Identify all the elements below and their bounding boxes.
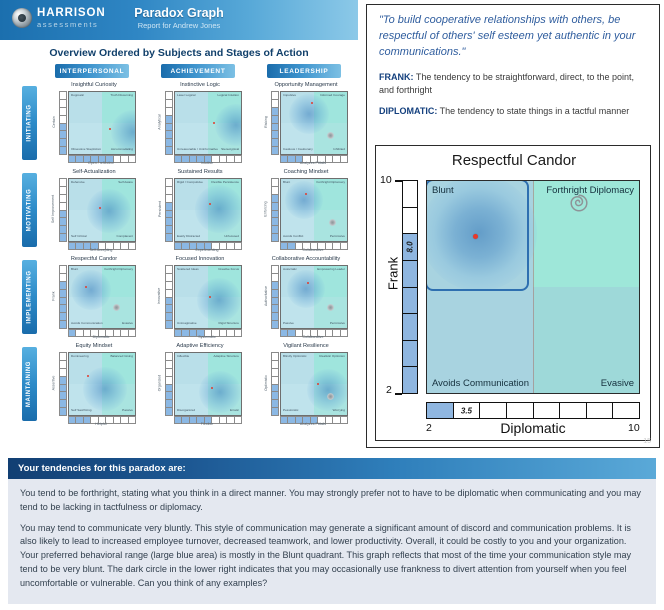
mini-y-scale-cell	[60, 131, 66, 139]
y-scale-cell	[403, 341, 417, 368]
mini-y-scale-cell	[60, 266, 66, 274]
page-number: 15	[643, 438, 651, 445]
mini-chart-title: Equity Mindset	[48, 343, 140, 349]
mini-quadrant-label: Flexible Persistence	[211, 181, 239, 185]
x-scale-cell	[613, 403, 639, 418]
mini-y-scale-cell	[60, 305, 66, 313]
mini-score-dot	[317, 383, 319, 385]
mini-y-scale-cell	[60, 282, 66, 290]
respectful-candor-chart: Respectful Candor 10 2 Frank 8.0 Blunt F…	[375, 145, 651, 441]
mini-y-scale-cell	[272, 218, 278, 226]
y-scale-cell	[403, 288, 417, 315]
mini-y-scale-cell	[60, 400, 66, 408]
y-axis-scale-bar[interactable]: 8.0	[402, 180, 418, 394]
mini-y-axis-label: Organized	[155, 352, 164, 414]
x-scale-cell	[587, 403, 614, 418]
mini-plot-area: DomineeringBalanced GivingSelf Sacrifici…	[68, 352, 136, 416]
mini-y-scale-cell	[272, 187, 278, 195]
mini-quadrant-label: Blunt	[71, 268, 78, 272]
mini-y-scale-cell	[272, 321, 278, 328]
mini-x-axis-label: Intuitive	[174, 161, 240, 165]
mini-score-dot	[209, 203, 211, 205]
y-axis-label: Frank	[386, 244, 401, 304]
mini-score-dot	[211, 387, 213, 389]
mini-score-dot	[209, 296, 211, 298]
mini-x-axis-label: Collaborative	[280, 248, 346, 252]
mini-dark-circle-icon	[113, 304, 120, 311]
chart-title: Respectful Candor	[376, 152, 652, 169]
column-header-leadership[interactable]: LEADERSHIP	[267, 64, 341, 78]
mini-y-scale-cell	[60, 392, 66, 400]
mini-chart-focused-innovation[interactable]: Focused InnovationInnovativeScattered Id…	[154, 256, 246, 338]
mini-quadrant-label: Dogmatic	[71, 94, 84, 98]
mini-range-blob	[197, 278, 241, 322]
mini-y-scale-cell	[166, 305, 172, 313]
mini-y-scale[interactable]	[271, 265, 279, 329]
y-axis-max-label: 10	[380, 174, 392, 186]
paradox-quote: "To build cooperative relationships with…	[379, 13, 651, 61]
mini-chart-coaching-mindset[interactable]: Coaching MindsetEnforcingBluntForthright…	[260, 169, 352, 251]
mini-chart-title: Focused Innovation	[154, 256, 246, 262]
mini-y-scale-cell	[60, 124, 66, 132]
x-scale-cell	[507, 403, 534, 418]
mini-y-scale-cell	[60, 298, 66, 306]
mini-range-blob	[287, 270, 325, 308]
mini-quadrant-label: Forthright Diplomacy	[316, 181, 345, 185]
overview-heading: Overview Ordered by Subjects and Stages …	[0, 47, 358, 59]
mini-y-scale-cell	[272, 116, 278, 124]
mini-y-scale-cell	[60, 321, 66, 328]
mini-quadrant-label: Rigid / Compulsive	[177, 181, 203, 185]
y-axis-bottom-tick	[395, 393, 402, 395]
mini-range-blob	[285, 181, 323, 219]
mini-quadrant-label: Self Aware	[118, 181, 133, 185]
mini-y-scale[interactable]	[59, 265, 67, 329]
mini-y-scale-cell	[60, 139, 66, 147]
mini-y-scale[interactable]	[59, 352, 67, 416]
mini-y-scale-cell	[272, 290, 278, 298]
mini-y-scale-cell	[60, 361, 66, 369]
mini-y-axis-label-text: Self Improvement	[52, 195, 56, 223]
x-axis-scale-bar[interactable]: 3.5	[426, 402, 640, 419]
mini-y-scale-cell	[60, 218, 66, 226]
y-axis-top-tick	[395, 180, 402, 182]
mini-quadrant-label: Scattered Ideas	[177, 268, 199, 272]
mini-quadrant-label: Evasive	[122, 322, 133, 326]
mini-score-dot	[213, 122, 215, 124]
mini-x-axis-label: Flexible	[174, 422, 240, 426]
mini-plot-area: BluntForthright DiplomacyAvoids Conflict…	[280, 178, 348, 242]
quadrant-label-top-left: Blunt	[432, 185, 454, 196]
mini-x-axis-label: Collaborative	[280, 335, 346, 339]
mini-y-scale-cell	[60, 226, 66, 234]
chart-plot-area[interactable]: Blunt Forthright Diplomacy Avoids Commun…	[426, 180, 640, 394]
mini-y-scale-cell	[272, 408, 278, 415]
mini-y-axis-label: Persistent	[155, 178, 164, 240]
mini-y-scale-cell	[272, 179, 278, 187]
mini-y-scale[interactable]	[165, 178, 173, 242]
mini-y-axis-label: Risking	[261, 91, 270, 153]
mini-quadrant-label: Balanced Giving	[110, 355, 133, 359]
mini-y-scale-cell	[272, 313, 278, 321]
mini-y-scale-cell	[166, 131, 172, 139]
mini-chart-instinctive-logic[interactable]: Instinctive LogicAnalyticalLaser Logical…	[154, 82, 246, 164]
mini-quadrant-label: Creative Focus	[218, 268, 239, 272]
page-title: Paradox Graph	[0, 6, 358, 20]
x-axis-max-label: 10	[628, 422, 640, 434]
mini-quadrant-label: Obsessive Skepticism	[71, 148, 101, 152]
mini-y-scale-cell	[60, 369, 66, 377]
definition-text: The tendency to state things in a tactfu…	[437, 106, 629, 116]
mini-y-scale-cell	[272, 124, 278, 132]
tendencies-panel: Your tendencies for this paradox are: Yo…	[8, 458, 656, 604]
y-scale-cell	[403, 367, 417, 393]
mini-chart-equity-mindset[interactable]: Equity MindsetAssertiveDomineeringBalanc…	[48, 343, 140, 425]
mini-y-scale-cell	[60, 385, 66, 393]
mini-range-blob	[71, 270, 111, 310]
mini-y-scale-cell	[166, 298, 172, 306]
row-header-label: MOTIVATING	[27, 189, 33, 232]
mini-y-scale-cell	[166, 408, 172, 415]
mini-y-scale-cell	[60, 408, 66, 415]
mini-plot-area: Laser LogicalLogical IntuitionUnreasonab…	[174, 91, 242, 155]
mini-plot-area: InflexibleAdaptive StructureDisorganized…	[174, 352, 242, 416]
mini-y-scale-cell	[166, 108, 172, 116]
mini-chart-adaptive-efficiency[interactable]: Adaptive EfficiencyOrganizedInflexibleAd…	[154, 343, 246, 425]
mini-y-scale-cell	[272, 385, 278, 393]
mini-quadrant-label: Easily Distracted	[177, 235, 200, 239]
mini-y-scale[interactable]	[59, 178, 67, 242]
x-scale-cell	[560, 403, 587, 418]
mini-y-scale-cell	[60, 92, 66, 100]
mini-dark-circle-icon	[327, 132, 334, 139]
mini-chart-respectful-candor[interactable]: Respectful CandorFrankBluntForthright Di…	[48, 256, 140, 338]
mini-x-axis-label: Analyzes Pitfalls	[280, 161, 346, 165]
mini-y-scale-cell	[272, 226, 278, 234]
mini-quadrant-label: Stereotypical	[221, 148, 239, 152]
definitions-list: FRANK: The tendency to be straightforwar…	[379, 71, 651, 125]
mini-y-scale-cell	[60, 203, 66, 211]
y-scale-cell	[403, 208, 417, 235]
mini-y-axis-label: Optimistic	[261, 352, 270, 414]
mini-y-axis-label-text: Persistent	[158, 201, 162, 217]
mini-chart-title: Instinctive Logic	[154, 82, 246, 88]
row-header-label: IMPLEMENTING	[27, 270, 33, 323]
mini-range-blob	[289, 94, 329, 134]
mini-y-scale-cell	[166, 234, 172, 241]
mini-y-axis-label: Assertive	[49, 352, 58, 414]
mini-range-blob	[307, 369, 348, 411]
mini-score-dot	[311, 102, 313, 104]
mini-score-dot	[85, 286, 87, 288]
mini-chart-vigilant-resilience[interactable]: Vigilant ResilienceOptimisticBlindly Opt…	[260, 343, 352, 425]
mini-quadrant-label: Forthright Diplomacy	[104, 268, 133, 272]
mini-y-axis-label-text: Enforcing	[264, 201, 268, 216]
mini-quadrant-label: Permissive	[330, 235, 345, 239]
mini-quadrant-label: Inflexible	[177, 355, 189, 359]
mini-quadrant-label: Complacent	[116, 235, 133, 239]
mini-quadrant-label: Avoids Conflict	[283, 235, 303, 239]
mini-y-scale-cell	[166, 179, 172, 187]
mini-y-scale-cell	[272, 195, 278, 203]
mini-y-scale-cell	[166, 290, 172, 298]
mini-y-scale-cell	[272, 298, 278, 306]
mini-y-axis-label-text: Risking	[264, 116, 268, 128]
mini-y-axis-label-text: Innovative	[158, 288, 162, 304]
tendencies-heading: Your tendencies for this paradox are:	[8, 458, 656, 479]
mini-y-scale-cell	[60, 108, 66, 116]
row-header-label: INITIATING	[27, 104, 33, 141]
mini-range-blob	[83, 367, 127, 411]
mini-quadrant-label: Permissive	[330, 322, 345, 326]
mini-y-scale-cell	[166, 392, 172, 400]
mini-chart-collaborative-accountability[interactable]: Collaborative AccountabilityAuthoritativ…	[260, 256, 352, 338]
mini-y-scale-cell	[60, 195, 66, 203]
mini-chart-opportunity-management[interactable]: Opportunity ManagementRiskingImpulsiveIn…	[260, 82, 352, 164]
mini-chart-title: Collaborative Accountability	[260, 256, 352, 262]
paradox-detail-panel: "To build cooperative relationships with…	[366, 4, 660, 448]
mini-y-scale-cell	[166, 100, 172, 108]
mini-quadrant-label: Avoids Communication	[71, 322, 103, 326]
mini-y-scale-cell	[166, 377, 172, 385]
mini-quadrant-label: Inhibited	[333, 148, 345, 152]
mini-y-scale[interactable]	[59, 91, 67, 155]
mini-y-scale-cell	[60, 187, 66, 195]
mini-y-scale[interactable]	[165, 91, 173, 155]
mini-y-scale-cell	[166, 282, 172, 290]
mini-quadrant-label: Realistic Optimism	[319, 355, 345, 359]
mini-y-axis-label: Enforcing	[261, 178, 270, 240]
mini-y-scale-cell	[272, 147, 278, 154]
mini-y-scale-cell	[166, 139, 172, 147]
mini-x-axis-label: Experimenting	[174, 248, 240, 252]
mini-y-axis-label: Authoritative	[261, 265, 270, 327]
mini-y-scale[interactable]	[165, 352, 173, 416]
mini-x-axis-label: Analyzes Pitfalls	[280, 422, 346, 426]
mini-range-blob	[195, 185, 242, 233]
mini-y-axis-label-text: Organized	[158, 375, 162, 392]
y-scale-cell	[403, 261, 417, 288]
mini-y-scale-cell	[60, 290, 66, 298]
mini-score-dot	[87, 375, 89, 377]
mini-quadrant-label: Empowering Leader	[317, 268, 345, 272]
y-axis-min-label: 2	[386, 384, 392, 396]
x-scale-cell	[480, 403, 507, 418]
mini-quadrant-label: Defensive	[71, 181, 85, 185]
mini-quadrant-label: Adaptive Structure	[214, 355, 239, 359]
mini-quadrant-label: Unimaginative	[177, 322, 197, 326]
tendencies-body: You tend to be forthright, stating what …	[8, 479, 656, 604]
tendencies-paragraph: You may tend to communicate very bluntly…	[20, 522, 644, 591]
mini-y-scale-cell	[166, 266, 172, 274]
column-header-interpersonal[interactable]: INTERPERSONAL	[55, 64, 129, 78]
mini-quadrant-label: Unfocused	[224, 235, 239, 239]
mini-chart-title: Opportunity Management	[260, 82, 352, 88]
mini-y-scale-cell	[166, 147, 172, 154]
mini-y-axis-label-text: Optimistic	[264, 375, 268, 391]
mini-y-scale-cell	[272, 361, 278, 369]
mini-y-scale-cell	[60, 147, 66, 154]
mini-y-scale-cell	[60, 179, 66, 187]
row-header-implementing[interactable]: IMPLEMENTING	[22, 260, 37, 334]
mini-dark-circle-icon	[329, 219, 336, 226]
mini-quadrant-label: Blunt	[283, 181, 290, 185]
column-header-achievement[interactable]: ACHIEVEMENT	[161, 64, 235, 78]
mini-y-scale[interactable]	[271, 178, 279, 242]
row-header-maintaining[interactable]: MAINTAINING	[22, 347, 37, 421]
mini-plot-area: Blindly OptimisticRealistic OptimismPess…	[280, 352, 348, 416]
mini-x-axis-label: Open / reflective	[68, 161, 134, 165]
mini-quadrant-label: Blindly Optimistic	[283, 355, 307, 359]
mini-quadrant-label: Disorganized	[177, 409, 195, 413]
mini-y-axis-label-text: Authoritative	[264, 286, 268, 306]
mini-quadrant-label: Logical Intuition	[218, 94, 240, 98]
mini-y-scale-cell	[60, 100, 66, 108]
mini-y-scale-cell	[166, 218, 172, 226]
mini-quadrant-label: Unreasonable / Uninformative	[177, 148, 218, 152]
row-header-motivating[interactable]: MOTIVATING	[22, 173, 37, 247]
mini-chart-title: Vigilant Resilience	[260, 343, 352, 349]
mini-y-scale-cell	[272, 274, 278, 282]
mini-y-scale-cell	[272, 92, 278, 100]
row-header-label: MAINTAINING	[27, 361, 33, 407]
mini-x-axis-label: Systematic	[174, 335, 240, 339]
mini-plot-area: DefensiveSelf AwareSelf CriticalComplace…	[68, 178, 136, 242]
definition-item: FRANK: The tendency to be straightforwar…	[379, 71, 651, 97]
mini-y-axis-label-text: Certain	[52, 116, 56, 128]
mini-chart-insightful-curiosity[interactable]: Insightful CuriosityCertainDogmaticTruth…	[48, 82, 140, 164]
mini-score-dot	[109, 128, 111, 130]
mini-score-dot	[307, 282, 309, 284]
mini-y-scale[interactable]	[271, 352, 279, 416]
mini-y-scale-cell	[272, 369, 278, 377]
mini-y-scale[interactable]	[271, 91, 279, 155]
report-subtitle: Report for Andrew Jones	[0, 21, 358, 30]
mini-chart-sustained-results[interactable]: Sustained ResultsPersistentRigid / Compu…	[154, 169, 246, 251]
mini-chart-title: Adaptive Efficiency	[154, 343, 246, 349]
mini-y-scale-cell	[166, 187, 172, 195]
mini-y-scale-cell	[272, 131, 278, 139]
mini-y-axis-label: Innovative	[155, 265, 164, 327]
mini-y-scale-cell	[166, 400, 172, 408]
mini-y-scale[interactable]	[165, 265, 173, 329]
mini-quadrant-label: Informed Courage	[320, 94, 345, 98]
mini-y-scale-cell	[166, 203, 172, 211]
mini-y-scale-cell	[272, 400, 278, 408]
mini-range-blob	[87, 189, 131, 233]
mini-y-scale-cell	[166, 211, 172, 219]
row-header-initiating[interactable]: INITIATING	[22, 86, 37, 160]
mini-plot-area: BluntForthright DiplomacyAvoids Communic…	[68, 265, 136, 329]
quadrant-label-top-right: Forthright Diplomacy	[546, 185, 634, 196]
mini-quadrant-label: Laser Logical	[177, 94, 195, 98]
mini-score-dot	[305, 193, 307, 195]
mini-quadrant-label: Worrying	[333, 409, 345, 413]
mini-y-axis-label-text: Analytical	[158, 114, 162, 129]
mini-y-axis-label: Frank	[49, 265, 58, 327]
mini-y-scale-cell	[166, 124, 172, 132]
quadrant-label-bottom-right: Evasive	[601, 378, 634, 389]
mini-y-scale-cell	[272, 100, 278, 108]
quadrant-label-bottom-left: Avoids Communication	[432, 378, 529, 389]
y-scale-cell: 8.0	[403, 234, 417, 261]
mini-y-scale-cell	[272, 234, 278, 241]
mini-quadrant-label: Autocratic	[283, 268, 297, 272]
mini-y-scale-cell	[60, 313, 66, 321]
mini-y-scale-cell	[60, 353, 66, 361]
mini-quadrant-label: Self Sacrificing	[71, 409, 91, 413]
mini-plot-area: Scattered IdeasCreative FocusUnimaginati…	[174, 265, 242, 329]
mini-y-scale-cell	[60, 274, 66, 282]
mini-quadrant-label: Pessimistic	[283, 409, 298, 413]
mini-y-scale-cell	[166, 274, 172, 282]
definition-text: The tendency to be straightforward, dire…	[379, 72, 634, 95]
definition-term: DIPLOMATIC:	[379, 106, 437, 116]
mini-y-scale-cell	[272, 139, 278, 147]
mini-y-scale-cell	[272, 108, 278, 116]
mini-dark-circle-icon	[327, 304, 334, 311]
definition-item: DIPLOMATIC: The tendency to state things…	[379, 105, 651, 118]
mini-y-axis-label: Self Improvement	[49, 178, 58, 240]
mini-dark-circle-icon	[327, 393, 334, 400]
mini-chart-title: Coaching Mindset	[260, 169, 352, 175]
mini-y-scale-cell	[166, 361, 172, 369]
mini-y-scale-cell	[272, 392, 278, 400]
mini-y-scale-cell	[166, 92, 172, 100]
mini-y-scale-cell	[272, 266, 278, 274]
mini-x-axis-label: Helpful	[68, 422, 134, 426]
mini-y-scale-cell	[60, 377, 66, 385]
mini-y-axis-label-text: Assertive	[52, 376, 56, 391]
mini-y-scale-cell	[166, 385, 172, 393]
mini-plot-area: ImpulsiveInformed CourageCautious / Caut…	[280, 91, 348, 155]
mini-y-scale-cell	[166, 369, 172, 377]
mini-plot-area: AutocraticEmpowering LeaderPassivePermis…	[280, 265, 348, 329]
mini-y-scale-cell	[272, 305, 278, 313]
mini-chart-self-actualization[interactable]: Self-ActualizationSelf ImprovementDefens…	[48, 169, 140, 251]
mini-y-scale-cell	[272, 377, 278, 385]
mini-chart-title: Sustained Results	[154, 169, 246, 175]
mini-quadrant-label: Cautious / Cautionary	[283, 148, 313, 152]
mini-y-scale-cell	[60, 211, 66, 219]
mini-quadrant-label: Domineering	[71, 355, 89, 359]
mini-y-scale-cell	[272, 353, 278, 361]
overview-report-card: HARRISON assessments Paradox Graph Repor…	[0, 0, 358, 448]
mini-quadrant-label: Self Critical	[71, 235, 87, 239]
mini-range-blob	[199, 371, 241, 413]
mini-quadrant-label: Accommodating	[111, 148, 133, 152]
mini-y-axis-label: Certain	[49, 91, 58, 153]
mini-quadrant-label: Erratic	[230, 409, 239, 413]
y-scale-cell	[403, 181, 417, 208]
x-axis-label: Diplomatic	[426, 420, 640, 436]
mini-score-dot	[99, 207, 101, 209]
mini-y-scale-cell	[166, 195, 172, 203]
mini-y-scale-cell	[60, 116, 66, 124]
x-score-value: 3.5	[461, 406, 472, 415]
mini-quadrant-label: Passive	[283, 322, 294, 326]
mini-y-scale-cell	[166, 353, 172, 361]
mini-x-axis-label: Diplomatic	[68, 335, 134, 339]
x-scale-cell: 3.5	[454, 403, 481, 418]
mini-plot-area: Rigid / CompulsiveFlexible PersistenceEa…	[174, 178, 242, 242]
mini-y-scale-cell	[60, 234, 66, 241]
mini-y-axis-label-text: Frank	[52, 291, 56, 300]
x-scale-cell	[534, 403, 561, 418]
mini-chart-title: Self-Actualization	[48, 169, 140, 175]
mini-chart-title: Insightful Curiosity	[48, 82, 140, 88]
mini-x-axis-label: Self Accepting	[68, 248, 134, 252]
